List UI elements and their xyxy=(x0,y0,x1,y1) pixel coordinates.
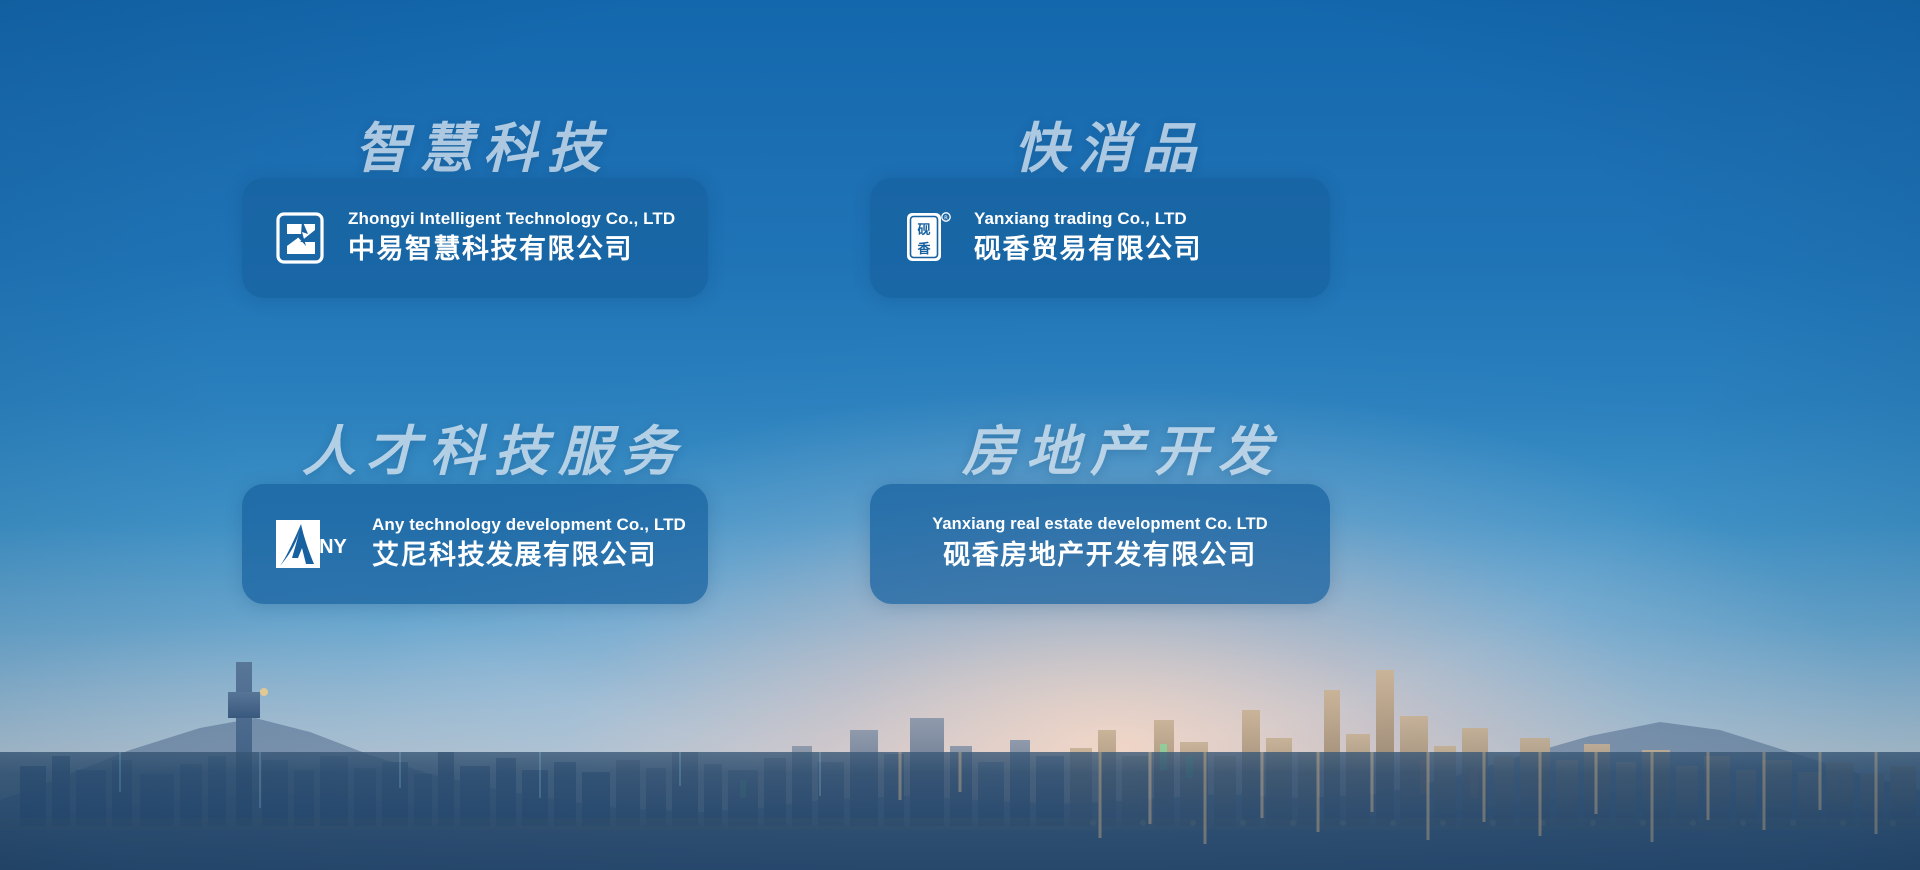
company-name-cn: 砚香贸易有限公司 xyxy=(974,231,1202,267)
svg-text:砚: 砚 xyxy=(917,223,930,238)
svg-text:香: 香 xyxy=(916,241,931,257)
company-name-cn: 艾尼科技发展有限公司 xyxy=(372,537,686,573)
company-name-en: Zhongyi Intelligent Technology Co., LTD xyxy=(348,208,675,229)
company-card-yanxiang-real-estate[interactable]: Yanxiang real estate development Co. LTD… xyxy=(870,484,1330,604)
company-card-any-technology[interactable]: NY Any technology development Co., LTD 艾… xyxy=(242,484,708,604)
company-card-yanxiang-trading[interactable]: 砚 香 R Yanxiang trading Co., LTD 砚香贸易有限公司 xyxy=(870,178,1330,298)
any-mountain-logo-icon: NY xyxy=(276,518,350,570)
sections-container: 智慧科技 Zhongyi Intelligent Technology Co.,… xyxy=(0,0,1920,870)
section-heading-talent-services: 人才科技服务 xyxy=(302,407,686,486)
section-heading-fmcg: 快消品 xyxy=(1014,104,1206,183)
company-names: Yanxiang trading Co., LTD 砚香贸易有限公司 xyxy=(974,208,1202,268)
company-name-en: Any technology development Co., LTD xyxy=(372,514,686,535)
section-heading-smart-technology: 智慧科技 xyxy=(355,104,611,183)
section-heading-real-estate: 房地产开发 xyxy=(962,407,1282,486)
company-name-cn: 中易智慧科技有限公司 xyxy=(348,231,675,267)
company-names: Yanxiang real estate development Co. LTD… xyxy=(932,514,1268,573)
company-name-en: Yanxiang trading Co., LTD xyxy=(974,208,1202,229)
company-names: Zhongyi Intelligent Technology Co., LTD … xyxy=(348,208,675,268)
company-names: Any technology development Co., LTD 艾尼科技… xyxy=(372,514,686,574)
yanxiang-seal-logo-icon: 砚 香 R xyxy=(904,209,952,267)
svg-text:R: R xyxy=(944,216,948,222)
company-card-zhongyi[interactable]: Zhongyi Intelligent Technology Co., LTD … xyxy=(242,178,708,298)
zhongyi-z-logo-icon xyxy=(276,212,326,264)
svg-text:NY: NY xyxy=(319,536,347,558)
company-name-en: Yanxiang real estate development Co. LTD xyxy=(932,514,1268,535)
company-name-cn: 砚香房地产开发有限公司 xyxy=(943,537,1257,573)
